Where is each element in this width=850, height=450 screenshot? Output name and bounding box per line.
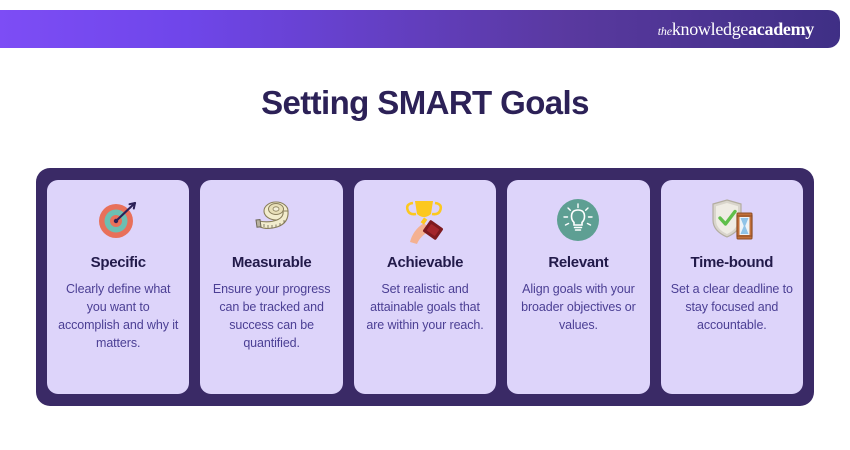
target-dartboard-icon [95, 194, 141, 246]
card-time-bound: Time-bound Set a clear deadline to stay … [661, 180, 803, 394]
card-title: Relevant [548, 254, 608, 271]
card-specific: Specific Clearly define what you want to… [47, 180, 189, 394]
header-bar: theknowledgeacademy [0, 10, 840, 48]
smart-goals-panel: Specific Clearly define what you want to… [36, 168, 814, 406]
brand-the-text: the [658, 24, 672, 38]
trophy-in-hand-icon [400, 194, 450, 246]
card-body: Set realistic and attainable goals that … [364, 280, 486, 334]
brand-academy-text: academy [748, 19, 814, 39]
card-body: Ensure your progress can be tracked and … [210, 280, 332, 353]
tape-measure-icon [247, 194, 297, 246]
card-body: Clearly define what you want to accompli… [57, 280, 179, 353]
card-title: Time-bound [691, 254, 774, 271]
card-relevant: Relevant Align goals with your broader o… [507, 180, 649, 394]
card-title: Measurable [232, 254, 312, 271]
card-measurable: Measurable Ensure your progress can be t… [200, 180, 342, 394]
lightbulb-icon [556, 194, 600, 246]
page-title: Setting SMART Goals [0, 84, 850, 122]
card-title: Specific [91, 254, 146, 271]
card-body: Set a clear deadline to stay focused and… [671, 280, 793, 334]
brand-logo: theknowledgeacademy [658, 20, 814, 39]
card-achievable: Achievable Set realistic and attainable … [354, 180, 496, 394]
card-title: Achievable [387, 254, 463, 271]
shield-check-hourglass-icon [707, 194, 757, 246]
brand-knowledge-text: knowledge [672, 19, 748, 39]
card-body: Align goals with your broader objectives… [517, 280, 639, 334]
